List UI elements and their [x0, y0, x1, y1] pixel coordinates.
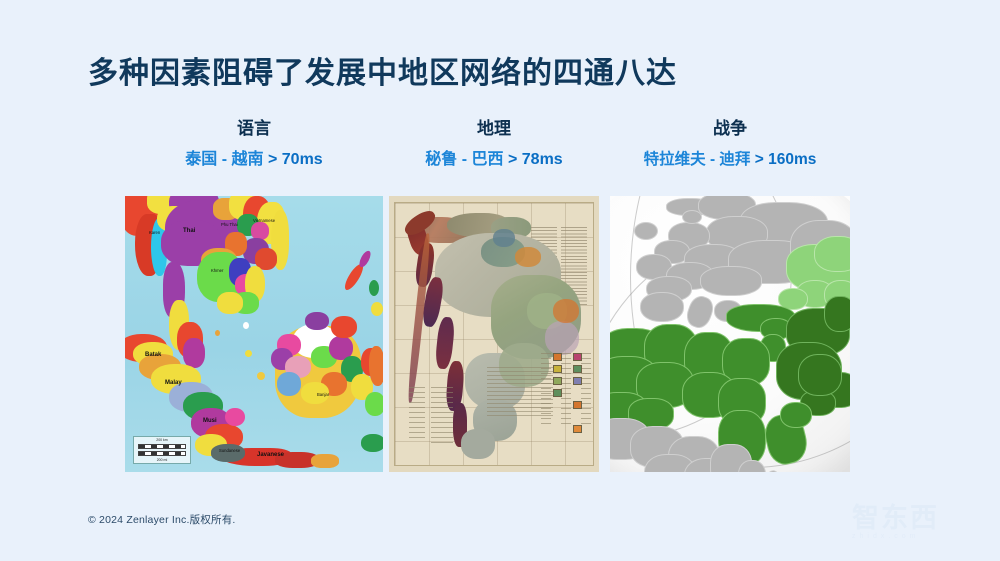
map-label-thai: Thai — [183, 228, 195, 234]
scale-bottom-label: 200 mi — [157, 458, 168, 462]
map-label-musi: Musi — [203, 418, 217, 424]
map-label-malay: Malay — [165, 380, 182, 386]
column-war: 战争 特拉维夫 - 迪拜 > 160ms — [610, 118, 850, 170]
column-subtitle-war: 特拉维夫 - 迪拜 > 160ms — [610, 150, 850, 170]
scale-top-label: 200 km — [156, 438, 167, 442]
column-heading-war: 战争 — [610, 118, 850, 140]
image-southeast-asia-ethnolinguistic-map: Thai Phu Thai Vietnamese Khmer Batak Mal… — [125, 196, 383, 472]
route-language: 泰国 - 越南 — [185, 151, 263, 168]
map-label-khmer: Khmer — [211, 268, 223, 273]
column-subtitle-geography: 秘鲁 - 巴西 > 78ms — [389, 150, 599, 170]
scale-ruler-mi — [138, 451, 186, 456]
map-label-batak: Batak — [145, 352, 161, 358]
legend-column-2 — [561, 353, 571, 425]
legend-swatch — [553, 389, 562, 397]
column-geography: 地理 秘鲁 - 巴西 > 78ms — [389, 118, 599, 170]
legend-swatch — [573, 377, 582, 385]
map-canvas-war — [610, 196, 850, 472]
map-sheet — [394, 202, 594, 466]
scale-ruler-km — [138, 444, 186, 449]
page-title: 多种因素阻碍了发展中地区网络的四通八达 — [88, 48, 677, 92]
latency-geography: > 78ms — [508, 151, 563, 168]
latency-language: > 70ms — [268, 151, 323, 168]
legend-swatch — [553, 353, 562, 361]
watermark-text: 智东西 — [852, 503, 980, 533]
legend-column-3 — [581, 353, 591, 425]
map-scale-bar: 200 km 200 mi — [133, 436, 191, 464]
route-war: 特拉维夫 - 迪拜 — [644, 151, 751, 168]
latency-war: > 160ms — [755, 151, 817, 168]
route-geography: 秘鲁 - 巴西 — [425, 151, 503, 168]
image-south-america-geological-relief-map — [389, 196, 599, 472]
legend-text-left — [409, 387, 425, 441]
legend-swatch — [573, 353, 582, 361]
legend-column-1 — [541, 353, 551, 425]
slide-root: 多种因素阻碍了发展中地区网络的四通八达 语言 泰国 - 越南 > 70ms 地理… — [0, 0, 1000, 561]
column-heading-geography: 地理 — [389, 118, 599, 140]
map-label-banjar: Banjar — [317, 392, 329, 397]
watermark-subtext: zhidx.com — [852, 533, 980, 540]
legend-swatch — [573, 365, 582, 373]
column-subtitle-language: 泰国 - 越南 > 70ms — [125, 150, 383, 170]
footer-copyright: © 2024 Zenlayer Inc.版权所有. — [88, 512, 236, 527]
column-heading-language: 语言 — [125, 118, 383, 140]
legend-swatch — [553, 365, 562, 373]
map-label-javanese: Javanese — [257, 452, 284, 458]
map-canvas-geography — [389, 196, 599, 472]
watermark-zhidx: 智东西 zhidx.com — [852, 503, 980, 551]
map-canvas-language: Thai Phu Thai Vietnamese Khmer Batak Mal… — [125, 196, 383, 472]
legend-swatch — [553, 377, 562, 385]
image-middle-east-africa-globe-map — [610, 196, 850, 472]
legend-swatch — [573, 401, 582, 409]
map-label-phuthai: Phu Thai — [221, 222, 238, 227]
column-language: 语言 泰国 - 越南 > 70ms — [125, 118, 383, 170]
legend-swatch — [573, 425, 582, 433]
map-label-vietnamese: Vietnamese — [253, 218, 275, 223]
map-label-karen: Karen — [149, 230, 160, 235]
legend-text-left-2 — [431, 387, 453, 445]
map-label-sundanese: Sundanese — [219, 448, 240, 453]
